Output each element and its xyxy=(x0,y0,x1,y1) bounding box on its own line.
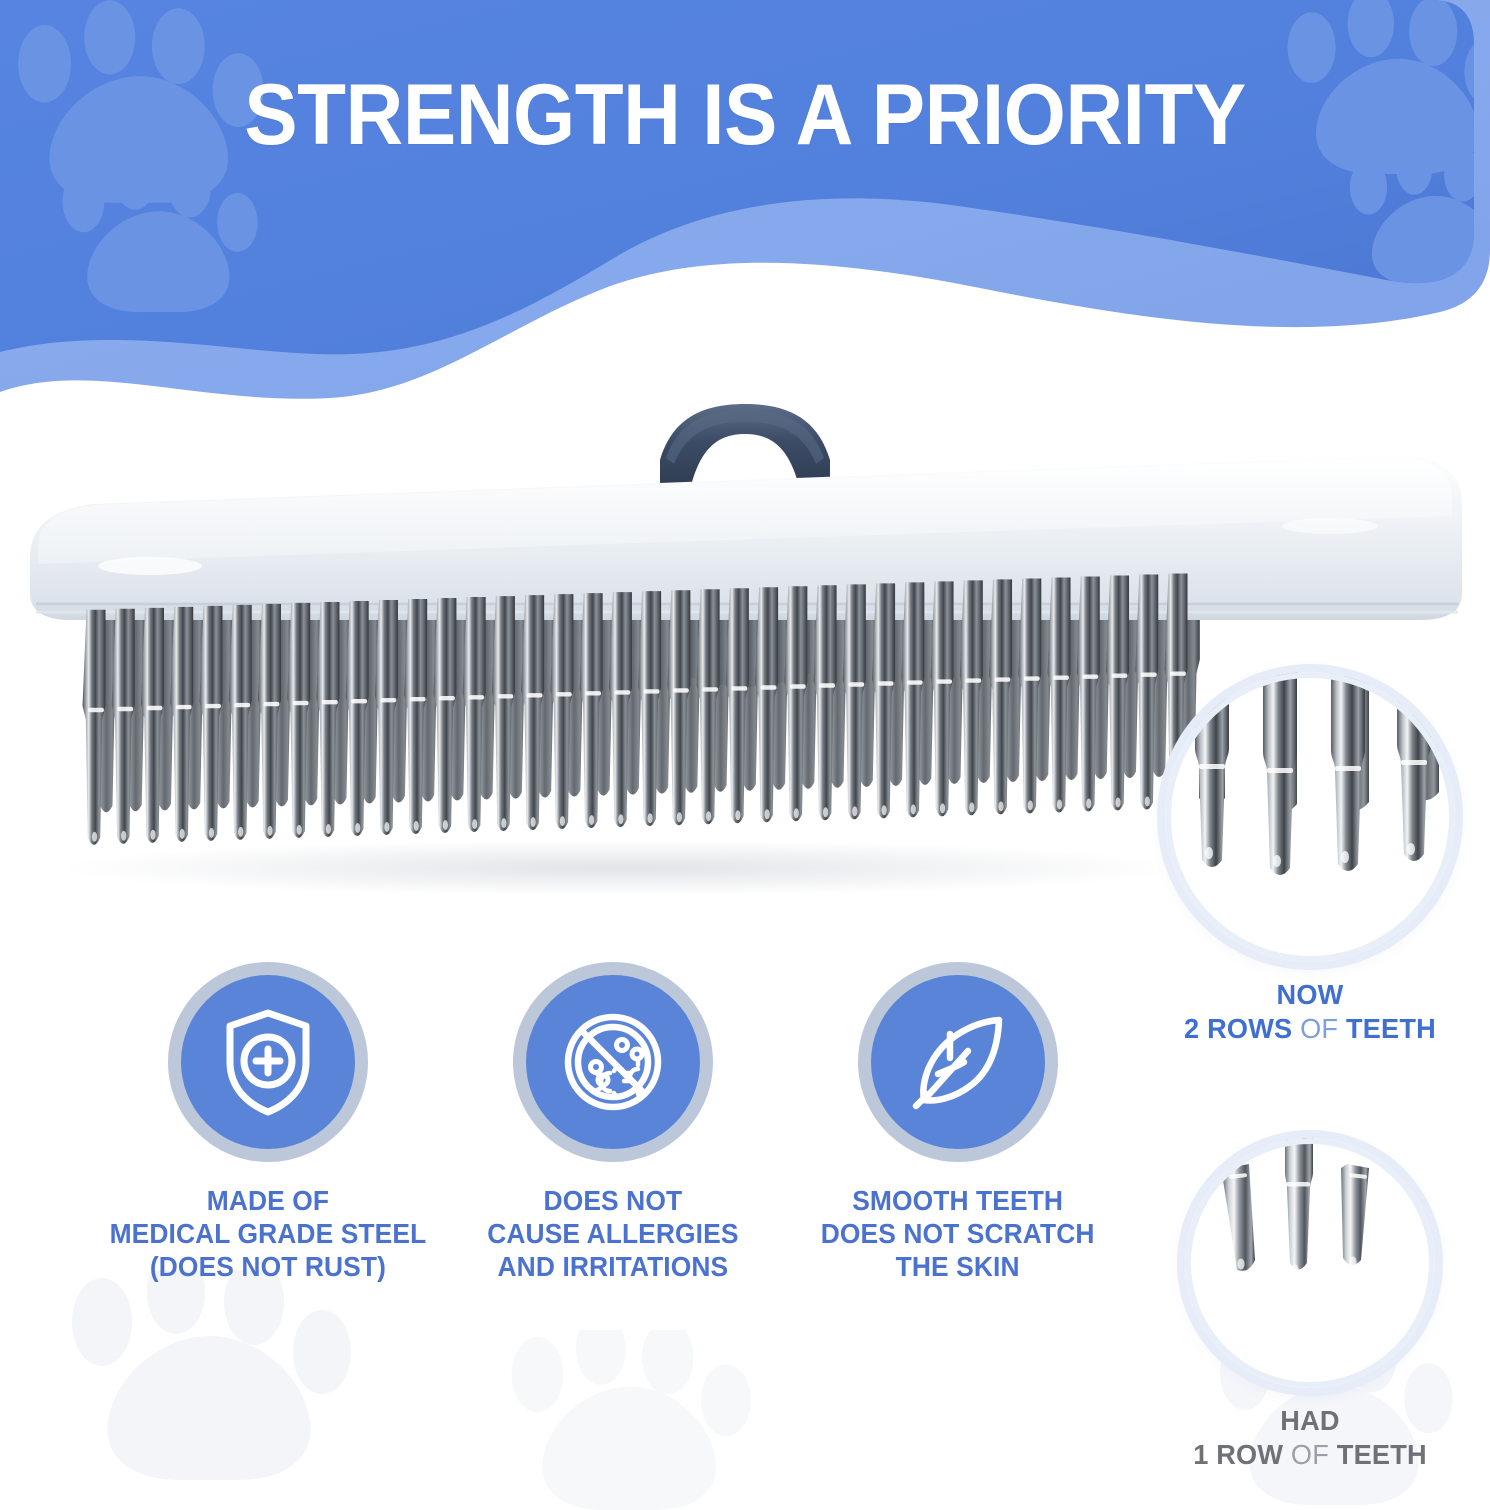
comb-tooth-tip-highlight xyxy=(852,806,857,816)
header-banner: STRENGTH IS A PRIORITY xyxy=(0,0,1490,400)
comb-tooth-tip-highlight xyxy=(589,815,594,825)
feature-smooth-teeth: SMOOTH TEETH DOES NOT SCRATCH THE SKIN xyxy=(785,962,1130,1312)
comb-tooth-highlight xyxy=(381,698,397,702)
comb-tooth-highlight xyxy=(936,679,952,683)
comb-tooth xyxy=(580,593,603,828)
comb-tooth-tip-highlight xyxy=(180,829,185,839)
callout-had-heading: HAD xyxy=(1280,1405,1339,1436)
comb-tooth-highlight xyxy=(1112,674,1128,678)
comb-tooth xyxy=(463,597,486,832)
comb-tooth xyxy=(258,604,281,839)
zoom-bubble-two-rows xyxy=(1165,672,1455,962)
comb-tooth xyxy=(1018,578,1041,813)
comb-tooth-tip-highlight xyxy=(1057,800,1062,810)
comb-tooth-highlight xyxy=(556,692,572,696)
comb-tooth xyxy=(697,589,720,824)
comb-tooth-tip-highlight xyxy=(794,808,799,818)
comb-tooth-tip-highlight xyxy=(998,801,1003,811)
feature-icon-ring xyxy=(513,962,713,1162)
comb-tooth xyxy=(375,600,398,835)
comb-tooth xyxy=(814,585,837,820)
comb-tooth-highlight xyxy=(205,704,221,708)
comb-tooth-tip-highlight xyxy=(326,824,331,834)
comb-tooth-tip-highlight xyxy=(267,826,272,836)
comb-tooth-tip-highlight xyxy=(414,821,419,831)
comb-tooth xyxy=(667,590,690,825)
comb-tooth-highlight xyxy=(1024,676,1040,680)
comb-tooth-tip-highlight xyxy=(355,823,360,833)
comb-tooth-tip-highlight xyxy=(92,832,97,842)
page-title: STRENGTH IS A PRIORITY xyxy=(52,72,1438,158)
comb-tooth-tip-highlight xyxy=(501,818,506,828)
comb-tooth xyxy=(784,586,807,821)
comb-tooth-highlight xyxy=(907,680,923,684)
comb-tooth-tip-highlight xyxy=(765,809,770,819)
comb-tooth-highlight xyxy=(790,684,806,688)
callout-now-of: OF xyxy=(1300,1013,1338,1044)
comb-tooth xyxy=(287,603,310,838)
comb-tooth xyxy=(141,608,164,843)
comb-tooth-tip-highlight xyxy=(1086,799,1091,809)
comb-tooth-tip-highlight xyxy=(121,831,126,841)
comb-tooth-highlight xyxy=(1053,676,1069,680)
comb-tooth-tip-highlight xyxy=(1028,800,1033,810)
comb-tooth xyxy=(989,579,1012,814)
comb-tooth xyxy=(433,598,456,833)
comb-tooth-tip-highlight xyxy=(618,814,623,824)
comb-tooth-highlight xyxy=(995,677,1011,681)
feature-caption: MADE OF MEDICAL GRADE STEEL (DOES NOT RU… xyxy=(109,1184,426,1283)
comb-tooth-tip-highlight xyxy=(531,817,536,827)
feature-caption: DOES NOT CAUSE ALLERGIES AND IRRITATIONS xyxy=(487,1184,738,1283)
feature-icon-ring xyxy=(858,962,1058,1162)
comb-tooth-tip-highlight xyxy=(648,813,653,823)
comb-tooth-highlight xyxy=(673,688,689,692)
comb-tooth-highlight xyxy=(498,694,514,698)
comb-tooth xyxy=(199,606,222,841)
comb-tooth-tip-highlight xyxy=(706,811,711,821)
comb-tooth-tip-highlight xyxy=(443,820,448,830)
comb-tooth-highlight xyxy=(234,703,250,707)
comb-tooth-highlight xyxy=(615,690,631,694)
comb-tooth-highlight xyxy=(848,682,864,686)
comb-tooth xyxy=(170,607,193,842)
zoom-bubble-one-row xyxy=(1185,1138,1435,1388)
comb-tooth-highlight xyxy=(761,685,777,689)
comb-tooth-highlight xyxy=(965,678,981,682)
comb-tooth-tip-highlight xyxy=(238,827,243,837)
comb-tooth-highlight xyxy=(819,683,835,687)
comb-tooth-tip-highlight xyxy=(969,802,974,812)
comb-tooth xyxy=(404,599,427,834)
comb-tooth xyxy=(521,595,544,830)
comb-tooth-tip-highlight xyxy=(677,812,682,822)
comb-tooth-highlight xyxy=(88,708,104,712)
comb-tooth xyxy=(960,580,983,815)
callout-now-rows: 2 ROWS xyxy=(1184,1013,1292,1044)
callout-had-text: HAD 1 ROW OF TEETH xyxy=(1145,1404,1475,1472)
feature-medical-grade-steel: MADE OF MEDICAL GRADE STEEL (DOES NOT RU… xyxy=(95,962,440,1312)
callout-had-1-row: HAD 1 ROW OF TEETH xyxy=(1140,1138,1480,1472)
comb-tooth xyxy=(843,584,866,819)
comb-tooth-highlight xyxy=(351,699,367,703)
comb-tooth-tip-highlight xyxy=(882,805,887,815)
background-paw-watermark-bottom-center xyxy=(480,1330,780,1510)
comb-tooth xyxy=(229,605,252,840)
comb-tooth-tip-highlight xyxy=(940,803,945,813)
comb-tooth-highlight xyxy=(468,695,484,699)
comb-tooth xyxy=(316,602,339,837)
comb-tooth xyxy=(1106,576,1129,811)
comb-tooth-highlight xyxy=(527,693,543,697)
comb-tooth xyxy=(726,588,749,823)
feature-icon-ring xyxy=(168,962,368,1162)
comb-tooth-tip-highlight xyxy=(911,804,916,814)
comb-tooth xyxy=(346,601,369,836)
comb-tooth xyxy=(638,591,661,826)
callout-now-text: NOW 2 ROWS OF TEETH xyxy=(1145,978,1475,1046)
comb-tooth-highlight xyxy=(439,696,455,700)
comb-tooth-tip-highlight xyxy=(1115,798,1120,808)
comb-tooth-tip-highlight xyxy=(823,807,828,817)
comb-tooth-highlight xyxy=(117,707,133,711)
comb-tooth-highlight xyxy=(585,691,601,695)
comb-tooth-tip-highlight xyxy=(735,810,740,820)
comb-tooth-highlight xyxy=(1082,675,1098,679)
comb-tooth-highlight xyxy=(293,701,309,705)
comb-tooth-tip-highlight xyxy=(384,822,389,832)
comb-tooth xyxy=(931,581,954,816)
callout-now-2-rows: NOW 2 ROWS OF TEETH xyxy=(1140,672,1480,1046)
comb-tooth xyxy=(1077,576,1100,811)
comb-tooth-tip-highlight xyxy=(472,819,477,829)
comb-tooth-highlight xyxy=(732,686,748,690)
comb-tooth-highlight xyxy=(322,700,338,704)
comb-tooth xyxy=(755,587,778,822)
comb-tooth xyxy=(82,610,105,845)
comb-tooth-highlight xyxy=(264,702,280,706)
callout-now-teeth: TEETH xyxy=(1346,1013,1436,1044)
callout-now-heading: NOW xyxy=(1277,979,1344,1010)
comb-tooth-highlight xyxy=(147,706,163,710)
comb-tooth xyxy=(609,592,632,827)
feature-icon-fill xyxy=(526,975,700,1149)
comb-tooth xyxy=(901,582,924,817)
comb-tooth xyxy=(492,596,515,831)
feature-caption: SMOOTH TEETH DOES NOT SCRATCH THE SKIN xyxy=(821,1184,1095,1283)
comb-tooth-highlight xyxy=(410,697,426,701)
comb-tooth xyxy=(550,594,573,829)
comb-tooth-tip-highlight xyxy=(297,825,302,835)
feather-icon xyxy=(902,1006,1014,1118)
comb-handle xyxy=(660,404,830,490)
no-bacteria-icon xyxy=(558,1007,668,1117)
comb-tooth-tip-highlight xyxy=(150,830,155,840)
shield-plus-icon xyxy=(214,1006,322,1118)
comb-tooth-tip-highlight xyxy=(209,828,214,838)
comb-tooth-tip-highlight xyxy=(560,816,565,826)
comb-tooth-highlight xyxy=(878,681,894,685)
comb-tooth xyxy=(112,609,135,844)
feature-icon-fill xyxy=(871,975,1045,1149)
comb-tooth xyxy=(1048,577,1071,812)
comb-tooth-highlight xyxy=(644,689,660,693)
features-row: MADE OF MEDICAL GRADE STEEL (DOES NOT RU… xyxy=(95,962,1130,1312)
comb-tooth xyxy=(872,583,895,818)
feature-icon-fill xyxy=(181,975,355,1149)
feature-no-allergies: DOES NOT CAUSE ALLERGIES AND IRRITATIONS xyxy=(440,962,785,1312)
comb-tooth-highlight xyxy=(702,687,718,691)
comb-tooth-highlight xyxy=(176,705,192,709)
